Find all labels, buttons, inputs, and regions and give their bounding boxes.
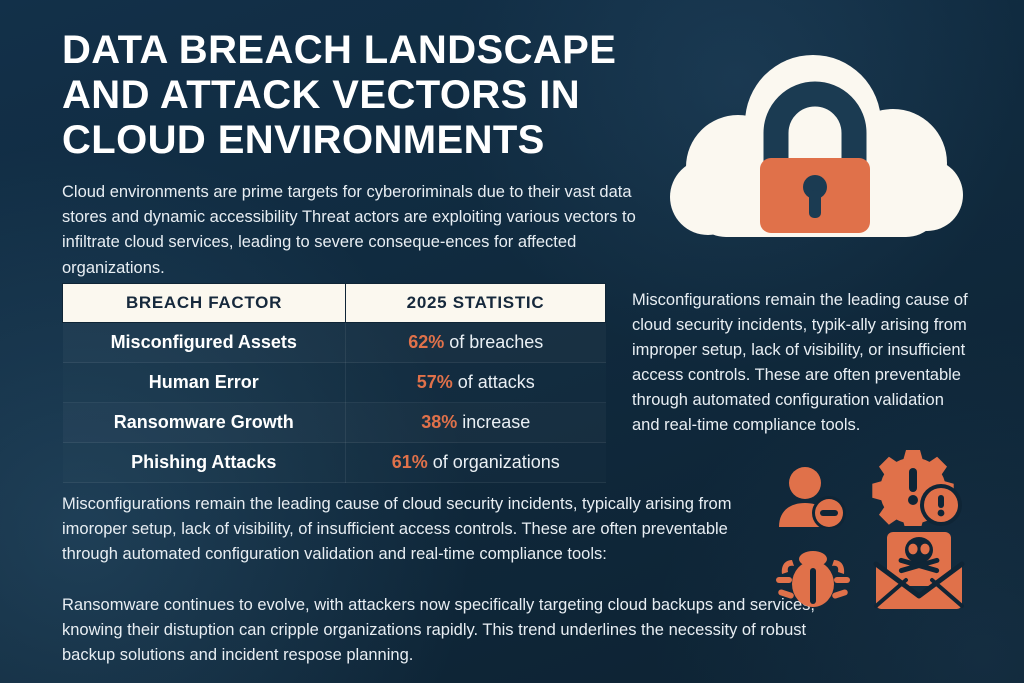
stat-suffix: increase <box>457 412 530 432</box>
column-header-breach-factor: BREACH FACTOR <box>63 284 346 323</box>
column-header-2025-statistic: 2025 STATISTIC <box>346 284 606 323</box>
cell-breach-factor: Human Error <box>63 363 346 403</box>
bottom-paragraph-ransomware: Ransomware continues to evolve, with att… <box>62 593 852 669</box>
table-row: Ransomware Growth 38% increase <box>63 403 606 443</box>
stat-percent: 62% <box>408 332 444 352</box>
cell-statistic: 38% increase <box>346 403 606 443</box>
table-row: Human Error 57% of attacks <box>63 363 606 403</box>
stat-suffix: of organizations <box>428 452 560 472</box>
user-minus-icon <box>774 466 852 528</box>
table-row: Misconfigured Assets 62% of breaches <box>63 323 606 363</box>
cell-statistic: 61% of organizations <box>346 443 606 483</box>
intro-paragraph: Cloud environments are prime targets for… <box>62 180 650 281</box>
stat-suffix: of attacks <box>453 372 535 392</box>
bug-icon <box>776 546 850 608</box>
stat-suffix: of breaches <box>444 332 543 352</box>
cell-breach-factor: Phishing Attacks <box>63 443 346 483</box>
breach-statistics-table: BREACH FACTOR 2025 STATISTIC Misconfigur… <box>62 283 606 483</box>
table-row: Phishing Attacks 61% of organizations <box>63 443 606 483</box>
stat-percent: 38% <box>421 412 457 432</box>
page-title: DATA BREACH LANDSCAPE AND ATTACK VECTORS… <box>62 28 662 162</box>
cell-statistic: 62% of breaches <box>346 323 606 363</box>
gear-alert-icon <box>870 448 962 526</box>
threat-icon-cluster <box>770 448 990 618</box>
cell-statistic: 57% of attacks <box>346 363 606 403</box>
bottom-paragraph-misconfigurations: Misconfigurations remain the leading cau… <box>62 492 762 568</box>
cell-breach-factor: Misconfigured Assets <box>63 323 346 363</box>
cloud-lock-icon <box>650 45 980 270</box>
cell-breach-factor: Ransomware Growth <box>63 403 346 443</box>
infographic-canvas: DATA BREACH LANDSCAPE AND ATTACK VECTORS… <box>0 0 1024 683</box>
table-header-row: BREACH FACTOR 2025 STATISTIC <box>63 284 606 323</box>
envelope-skull-icon <box>870 530 968 610</box>
side-note-paragraph: Misconfigurations remain the leading cau… <box>632 288 970 438</box>
stat-percent: 61% <box>392 452 428 472</box>
stat-percent: 57% <box>417 372 453 392</box>
